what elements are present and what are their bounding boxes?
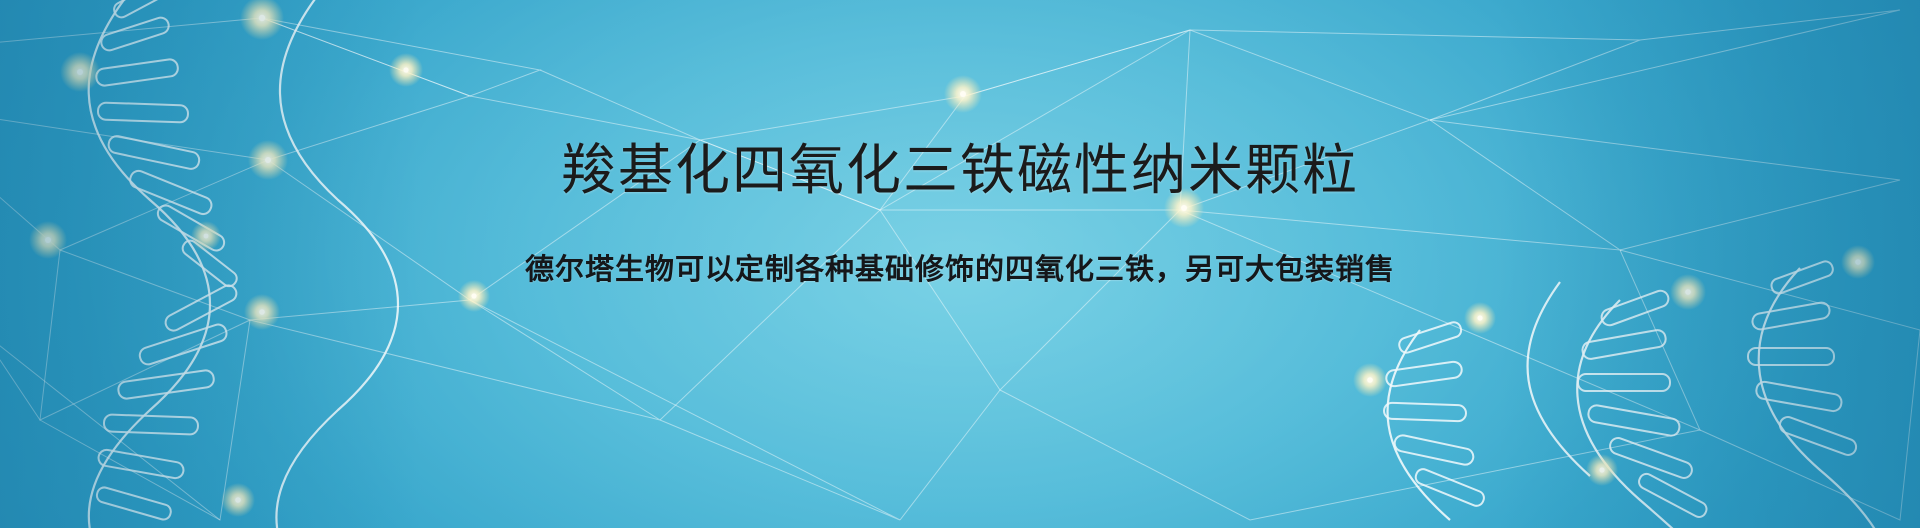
banner-subtitle: 德尔塔生物可以定制各种基础修饰的四氧化三铁，另可大包装销售 bbox=[525, 253, 1395, 288]
product-banner: 羧基化四氧化三铁磁性纳米颗粒 德尔塔生物可以定制各种基础修饰的四氧化三铁，另可大… bbox=[0, 0, 1920, 528]
banner-content: 羧基化四氧化三铁磁性纳米颗粒 德尔塔生物可以定制各种基础修饰的四氧化三铁，另可大… bbox=[0, 0, 1920, 528]
banner-title: 羧基化四氧化三铁磁性纳米颗粒 bbox=[561, 140, 1359, 201]
